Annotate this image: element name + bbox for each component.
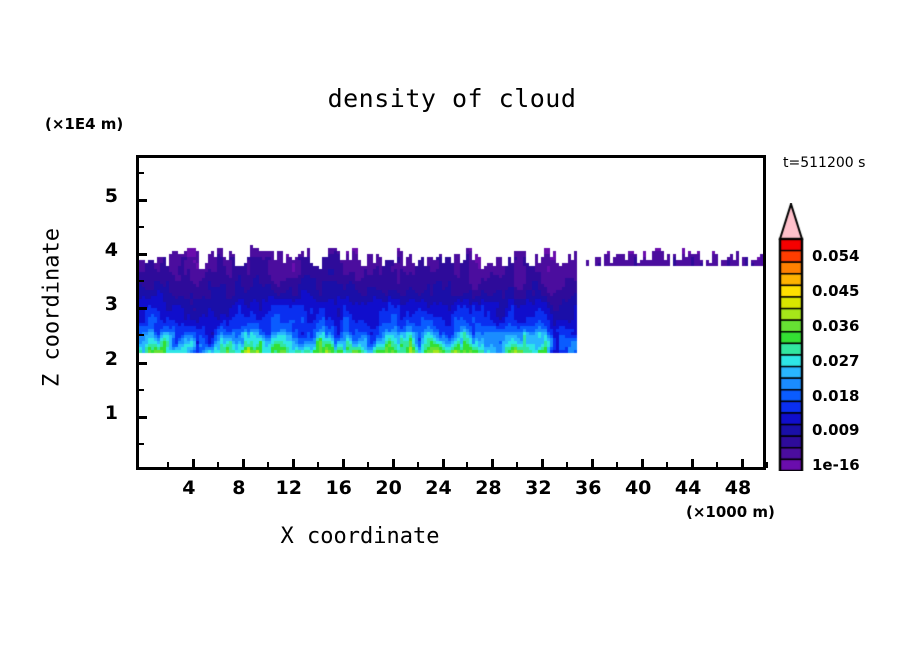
x-axis-tick [392,459,395,468]
x-axis-tick [242,459,245,468]
x-tick-label: 4 [182,477,195,499]
x-axis-tick [541,459,544,468]
x-axis-tick [342,459,345,468]
y-axis-tick [138,253,147,256]
colorbar-tick-label: 0.027 [812,352,859,370]
x-tick-label: 32 [525,477,551,499]
x-axis-minor-tick [466,462,468,468]
x-axis-tick [442,459,445,468]
colorbar-tick-label: 0.009 [812,421,859,439]
x-axis-minor-tick [716,462,718,468]
y-tick-label: 2 [105,348,118,370]
time-label: t=511200 s [783,155,865,171]
y-axis-tick [138,362,147,365]
y-axis-minor-tick [138,443,144,445]
colorbar [778,203,804,471]
x-axis-minor-tick [317,462,319,468]
x-axis-minor-tick [367,462,369,468]
x-axis-tick [292,459,295,468]
y-tick-label: 4 [105,239,118,261]
y-axis-tick [138,199,147,202]
plot-frame [136,155,766,470]
x-axis-minor-tick [566,462,568,468]
x-tick-label: 36 [575,477,601,499]
x-axis-tick [691,459,694,468]
y-tick-labels: 12345 [90,0,118,654]
x-axis-tick [591,459,594,468]
x-tick-label: 48 [725,477,751,499]
x-axis-minor-tick [616,462,618,468]
x-tick-label: 40 [625,477,651,499]
y-axis-minor-tick [138,334,144,336]
y-axis-minor-tick [138,280,144,282]
x-axis-minor-tick [217,462,219,468]
colorbar-tick-label: 0.054 [812,247,859,265]
y-tick-label: 3 [105,293,118,315]
chart-title: density of cloud [0,84,904,113]
x-axis-tick [192,459,195,468]
y-tick-label: 1 [105,402,118,424]
x-axis-tick [741,459,744,468]
y-axis-tick [138,307,147,310]
x-tick-label: 24 [425,477,451,499]
x-tick-label: 28 [475,477,501,499]
x-axis-minor-tick [167,462,169,468]
y-tick-label: 5 [105,185,118,207]
x-axis-tick [641,459,644,468]
x-tick-label: 12 [276,477,302,499]
x-axis-minor-tick [417,462,419,468]
y-axis-minor-tick [138,172,144,174]
x-tick-label: 8 [232,477,245,499]
y-axis-minor-tick [138,389,144,391]
colorbar-tick-label: 0.036 [812,317,859,335]
x-tick-label: 20 [375,477,401,499]
x-tick-label: 44 [675,477,701,499]
colorbar-tick-label: 0.045 [812,282,859,300]
colorbar-tick-label: 0.018 [812,387,859,405]
y-axis-tick [138,416,147,419]
x-axis-minor-tick [666,462,668,468]
x-axis-unit-label: (×1000 m) [686,503,775,521]
x-axis-minor-tick [516,462,518,468]
colorbar-tick-label: 1e-16 [812,456,860,474]
y-axis-minor-tick [138,226,144,228]
x-axis-minor-tick [766,462,768,468]
x-axis-tick [491,459,494,468]
y-axis-title: Z coordinate [40,198,65,418]
x-axis-minor-tick [267,462,269,468]
x-tick-label: 16 [325,477,351,499]
